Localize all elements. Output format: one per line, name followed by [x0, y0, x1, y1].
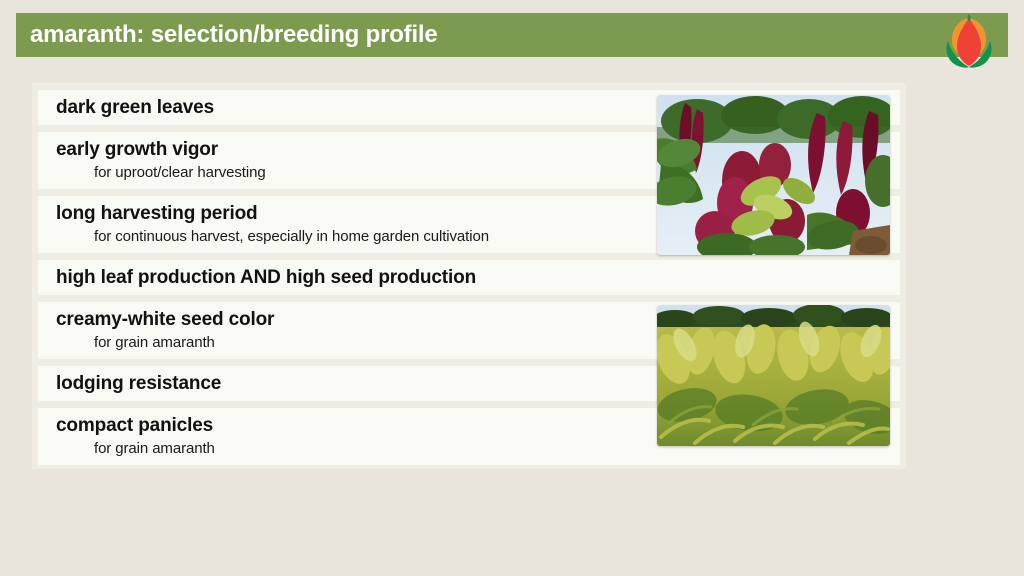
list-item: high leaf production AND high seed produ… — [38, 260, 900, 295]
list-item-title: high leaf production AND high seed produ… — [56, 265, 900, 290]
photo-golden-amaranth-field — [657, 305, 890, 446]
page-title: amaranth: selection/breeding profile — [30, 21, 438, 49]
photo-red-amaranth-field — [657, 95, 890, 255]
header-bar: amaranth: selection/breeding profile — [16, 13, 1008, 57]
slide-root: amaranth: selection/breeding profile dar… — [0, 0, 1024, 576]
tulip-flower-logo-icon — [938, 8, 1000, 70]
